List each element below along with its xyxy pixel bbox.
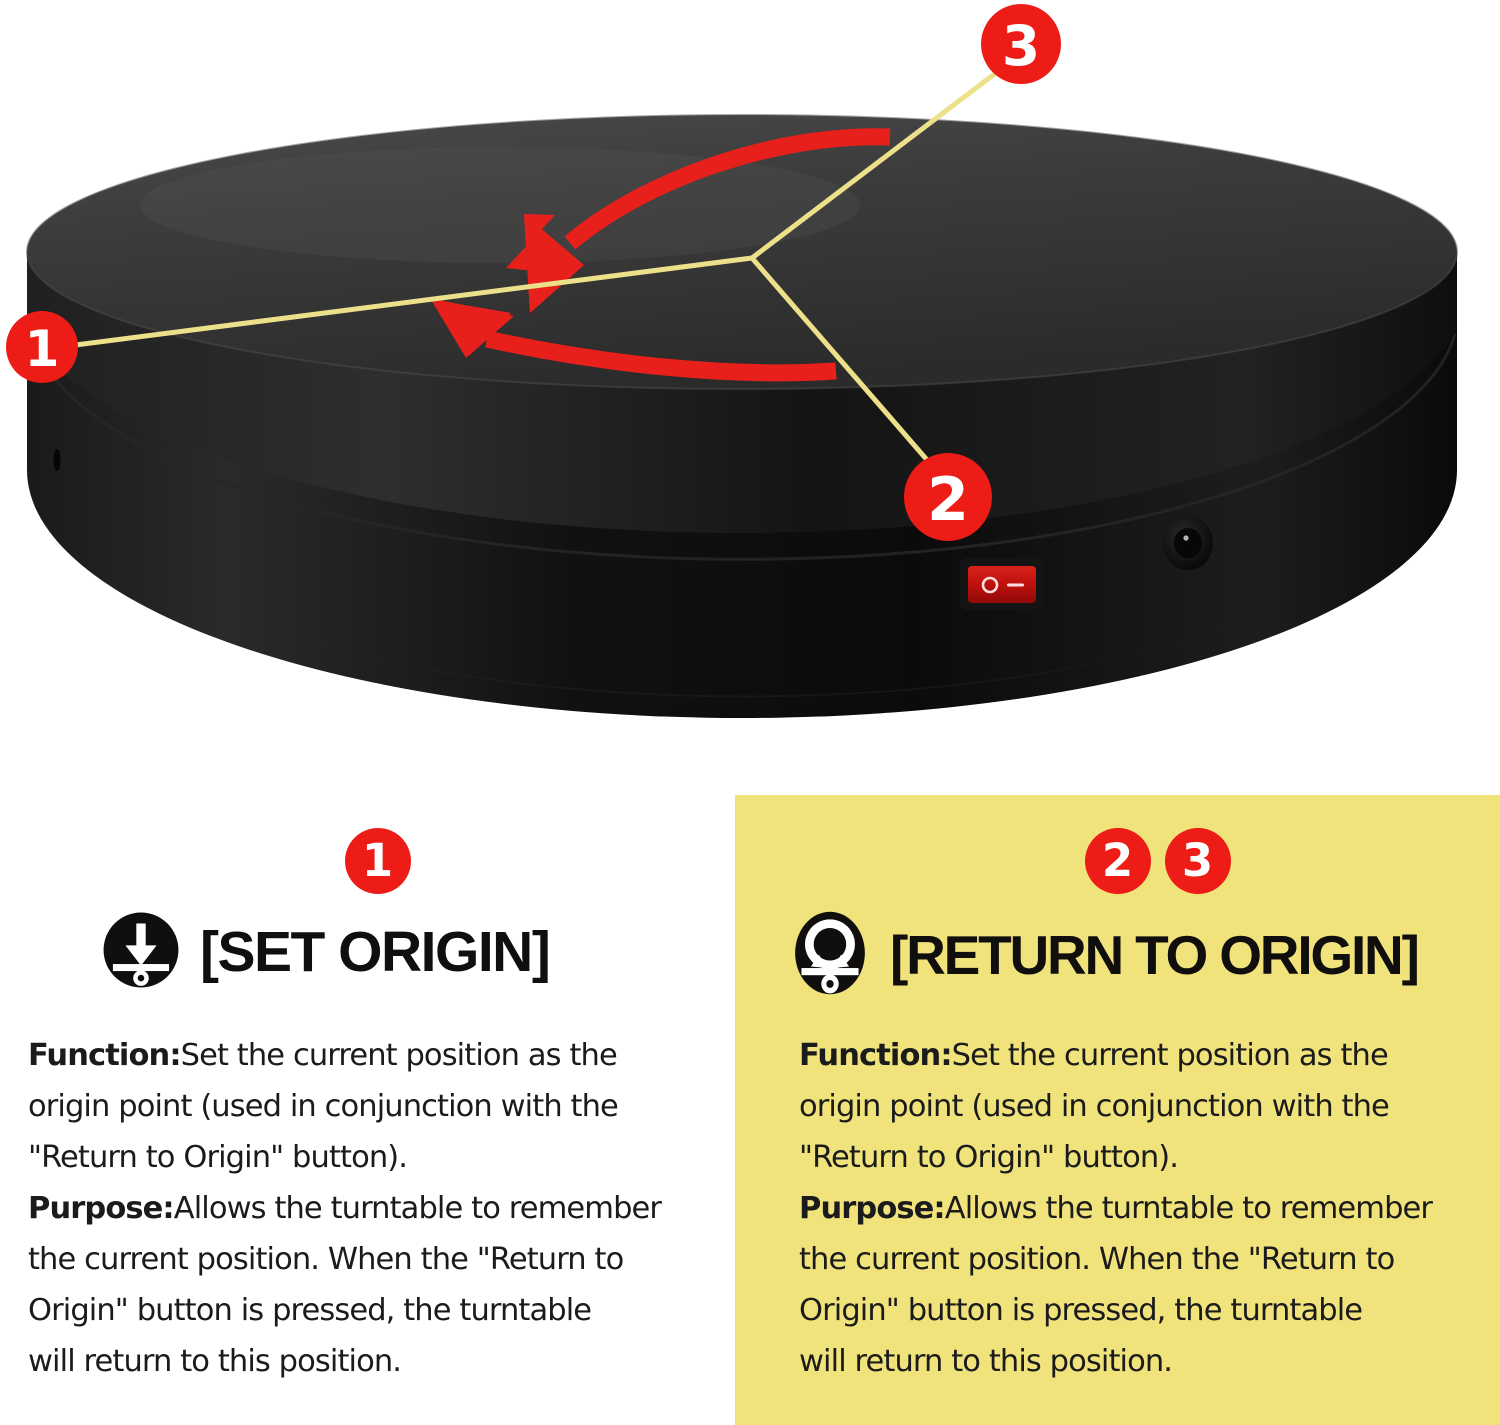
dc-power-jack[interactable] xyxy=(1163,516,1213,570)
purpose-line-2: Origin" button is pressed, the turntable xyxy=(28,1285,718,1336)
turntable-illustration: 1 2 3 xyxy=(0,0,1500,795)
svg-text:3: 3 xyxy=(1002,14,1040,78)
function-line-0: Set the current position as the xyxy=(952,1038,1388,1073)
feature-panels: 1 [SET ORIGIN] Function:Set the current … xyxy=(0,795,1500,1425)
power-switch[interactable] xyxy=(960,558,1044,610)
panel-set-origin: 1 [SET ORIGIN] Function:Set the current … xyxy=(0,795,735,1425)
panel-badge: 1 xyxy=(345,828,411,894)
callout-badge-2: 2 xyxy=(904,453,992,541)
purpose-line-0: Allows the turntable to remember xyxy=(174,1191,661,1226)
panel-body-set-origin: Function:Set the current position as the… xyxy=(28,1030,718,1387)
function-line-2: "Return to Origin" button). xyxy=(28,1132,718,1183)
panel-title: [SET ORIGIN] xyxy=(200,924,549,981)
panel-heading-return-to-origin: [RETURN TO ORIGIN] xyxy=(790,911,1418,1000)
callout-badge-1: 1 xyxy=(6,311,78,383)
return-to-origin-icon xyxy=(790,911,870,1000)
panel-title: [RETURN TO ORIGIN] xyxy=(890,928,1418,983)
panel-return-to-origin: 2 3 [RETURN TO ORIGIN] Function:Set the … xyxy=(735,795,1500,1425)
function-label: Function: xyxy=(799,1038,952,1073)
purpose-label: Purpose: xyxy=(28,1191,174,1226)
svg-text:1: 1 xyxy=(25,320,60,378)
callout-badge-3: 3 xyxy=(981,4,1061,84)
product-hero-image: 1 2 3 xyxy=(0,0,1500,795)
function-line-1: origin point (used in conjunction with t… xyxy=(799,1081,1499,1132)
purpose-line-3: will return to this position. xyxy=(28,1336,718,1387)
purpose-line-3: will return to this position. xyxy=(799,1336,1499,1387)
set-origin-icon xyxy=(102,911,180,994)
purpose-line-0: Allows the turntable to remember xyxy=(945,1191,1432,1226)
panel-badge: 3 xyxy=(1165,828,1231,894)
function-line-2: "Return to Origin" button). xyxy=(799,1132,1499,1183)
panel-badges-set-origin: 1 xyxy=(0,828,745,894)
panel-badge: 2 xyxy=(1085,828,1151,894)
panel-badges-return-to-origin: 2 3 xyxy=(735,828,1500,894)
function-label: Function: xyxy=(28,1038,181,1073)
function-line-1: origin point (used in conjunction with t… xyxy=(28,1081,718,1132)
purpose-line-2: Origin" button is pressed, the turntable xyxy=(799,1285,1499,1336)
function-line-0: Set the current position as the xyxy=(181,1038,617,1073)
vent-slot xyxy=(54,449,61,471)
panel-body-return-to-origin: Function:Set the current position as the… xyxy=(799,1030,1499,1387)
svg-text:2: 2 xyxy=(927,465,969,535)
purpose-label: Purpose: xyxy=(799,1191,945,1226)
purpose-line-1: the current position. When the "Return t… xyxy=(28,1234,718,1285)
panel-heading-set-origin: [SET ORIGIN] xyxy=(102,911,549,994)
purpose-line-1: the current position. When the "Return t… xyxy=(799,1234,1499,1285)
